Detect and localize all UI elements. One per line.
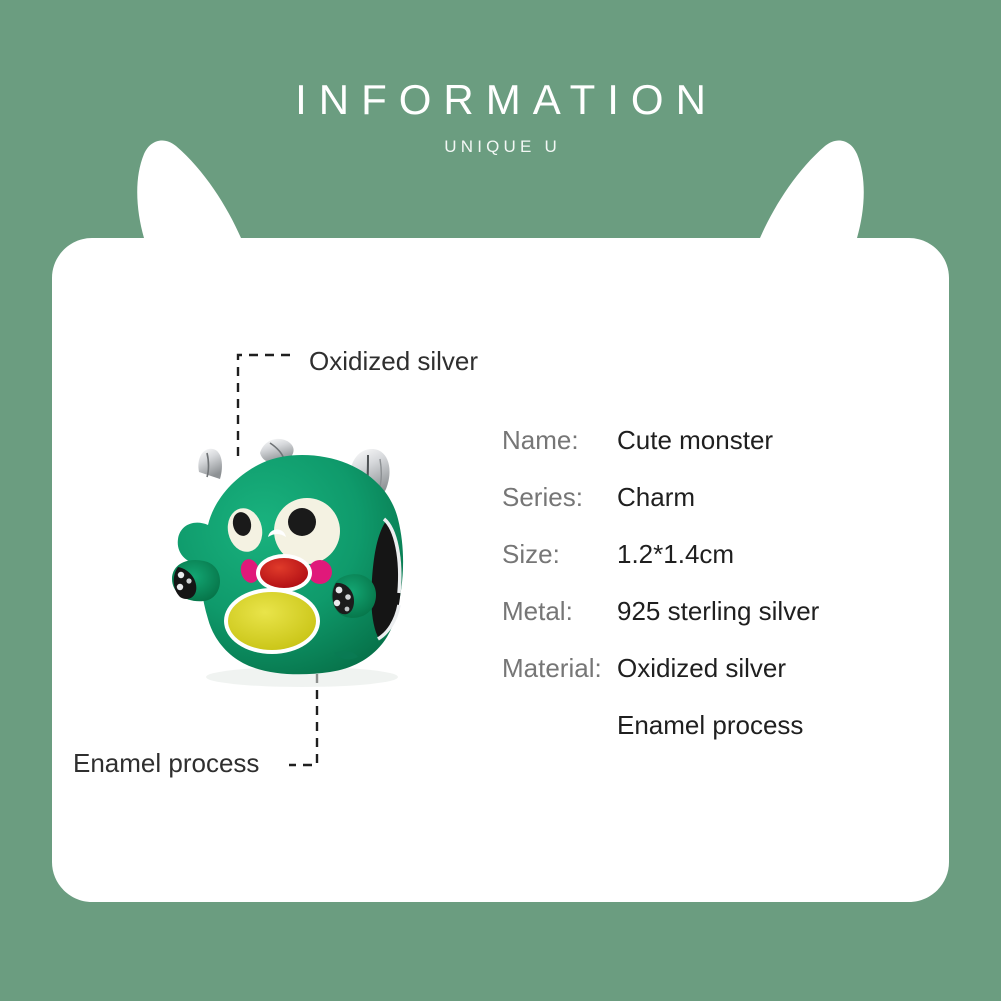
spec-label-size: Size: xyxy=(502,539,617,570)
information-card: Oxidized silver Enamel process xyxy=(52,140,949,902)
card-content: Oxidized silver Enamel process xyxy=(52,140,949,902)
spec-value-size: 1.2*1.4cm xyxy=(617,539,734,570)
spec-label-name: Name: xyxy=(502,425,617,456)
spec-label-metal: Metal: xyxy=(502,596,617,627)
specification-table: Name: Cute monster Series: Charm Size: 1… xyxy=(502,425,922,741)
callout-label-oxidized-silver: Oxidized silver xyxy=(309,346,478,377)
charm-mouth xyxy=(256,554,312,592)
callout-label-enamel-process: Enamel process xyxy=(73,748,259,779)
spec-row-metal: Metal: 925 sterling silver xyxy=(502,596,922,627)
spec-label-series: Series: xyxy=(502,482,617,513)
spec-row-name: Name: Cute monster xyxy=(502,425,922,456)
spec-value-material: Oxidized silver xyxy=(617,653,786,684)
charm-belly-enamel xyxy=(224,588,320,654)
spec-value-material-line2: Enamel process xyxy=(617,710,922,741)
page-title: INFORMATION xyxy=(0,0,1001,124)
spec-value-metal: 925 sterling silver xyxy=(617,596,819,627)
spec-row-series: Series: Charm xyxy=(502,482,922,513)
spec-value-name: Cute monster xyxy=(617,425,773,456)
spec-value-series: Charm xyxy=(617,482,695,513)
page-header: INFORMATION UNIQUE U xyxy=(0,0,1001,157)
spec-row-size: Size: 1.2*1.4cm xyxy=(502,539,922,570)
cute-monster-charm-illustration xyxy=(152,425,447,690)
spec-label-material: Material: xyxy=(502,653,617,684)
spec-row-material: Material: Oxidized silver xyxy=(502,653,922,684)
product-image xyxy=(152,425,447,690)
silver-horn-left xyxy=(198,449,222,479)
